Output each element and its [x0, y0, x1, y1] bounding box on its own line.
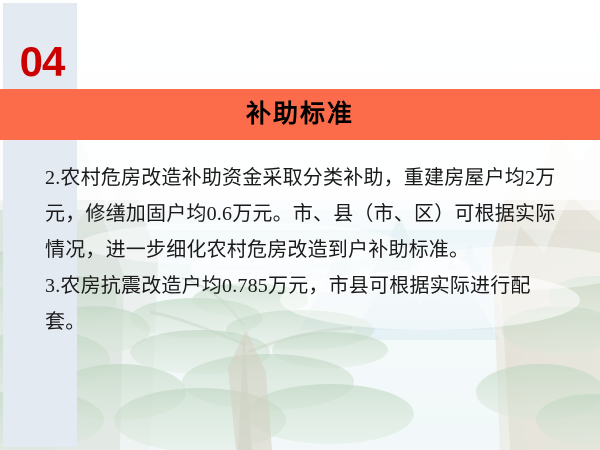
- section-number: 04: [12, 36, 72, 88]
- body-paragraph: 3.农房抗震改造户均0.785万元，市县可根据实际进行配套。: [45, 268, 565, 340]
- page-title: 补助标准: [246, 102, 354, 127]
- title-band: 补助标准: [0, 89, 600, 140]
- body-paragraph: 2.农村危房改造补助资金采取分类补助，重建房屋户均2万元，修缮加固户均0.6万元…: [45, 160, 565, 268]
- presentation-slide: 04 补助标准 2.农村危房改造补助资金采取分类补助，重建房屋户均2万元，修缮加…: [0, 0, 600, 450]
- body-text-block: 2.农村危房改造补助资金采取分类补助，重建房屋户均2万元，修缮加固户均0.6万元…: [45, 160, 565, 340]
